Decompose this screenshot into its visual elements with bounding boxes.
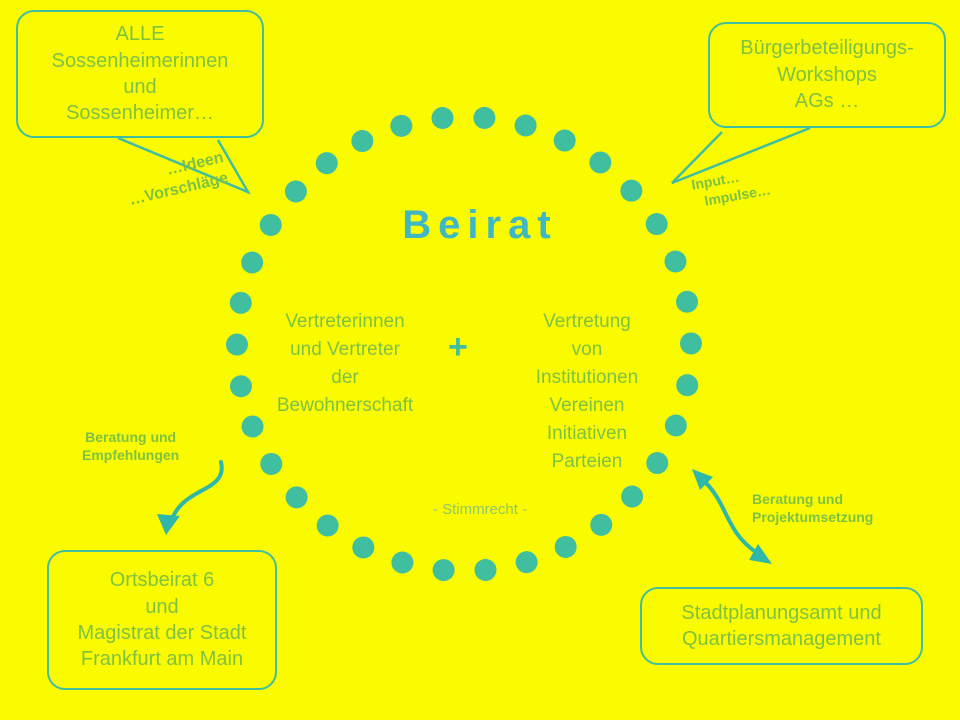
bubble-line: Bürgerbeteiligungs-	[740, 35, 913, 61]
right-column-line: Institutionen	[498, 364, 676, 392]
box-line: Ortsbeirat 6	[110, 567, 214, 593]
bubble-line: und	[123, 74, 156, 100]
circle-dot	[226, 334, 248, 356]
left-column-line: der	[256, 364, 434, 392]
beirat-title: Beirat	[0, 203, 960, 248]
circle-dot	[230, 375, 252, 397]
right-column-line: Parteien	[498, 448, 676, 476]
right-column-line: Initiativen	[498, 420, 676, 448]
circle-dot	[391, 551, 413, 573]
circle-dot	[390, 115, 412, 137]
bubble-line: ALLE	[116, 21, 165, 47]
box-line: und	[145, 594, 178, 620]
label-line: Beratung und	[752, 490, 873, 508]
circle-dot	[515, 115, 537, 137]
left-column-line: Vertreterinnen	[256, 308, 434, 336]
box-line: Frankfurt am Main	[81, 646, 243, 672]
label-line: Projektumsetzung	[752, 508, 873, 526]
plus-icon: +	[448, 330, 468, 364]
box-line: Quartiersmanagement	[682, 626, 881, 652]
circle-dot	[554, 130, 576, 152]
circle-dot	[433, 559, 455, 581]
label-line: Empfehlungen	[82, 446, 179, 464]
circle-dot	[241, 252, 263, 274]
circle-dot	[316, 152, 338, 174]
box-line: Magistrat der Stadt	[78, 620, 247, 646]
circle-dot	[351, 130, 373, 152]
right-column-line: Vertretung	[498, 308, 676, 336]
right-column-institutions: Vertretung von Institutionen Vereinen In…	[498, 308, 676, 476]
circle-dot	[664, 250, 686, 272]
bubble-alle-sossenheimer: ALLE Sossenheimerinnen und Sossenheimer…	[16, 10, 264, 138]
circle-dot	[474, 559, 496, 581]
bubble-line: Sossenheimer…	[66, 100, 214, 126]
right-column-line: von	[498, 336, 676, 364]
circle-dot	[676, 374, 698, 396]
label-line: Beratung und	[82, 428, 179, 446]
bubble-buergerbeteiligungs-workshops: Bürgerbeteiligungs- Workshops AGs …	[708, 22, 946, 128]
circle-dot	[589, 152, 611, 174]
circle-dot	[352, 536, 374, 558]
circle-dot	[432, 107, 454, 129]
label-beratung-projektumsetzung: Beratung und Projektumsetzung	[752, 490, 873, 526]
box-ortsbeirat-magistrat: Ortsbeirat 6 und Magistrat der Stadt Fra…	[47, 550, 277, 690]
circle-dot	[620, 180, 642, 202]
bubble-line: AGs …	[795, 88, 859, 114]
circle-dot	[285, 180, 307, 202]
bubble-line: Sossenheimerinnen	[52, 48, 229, 74]
circle-dot	[516, 551, 538, 573]
left-column-line: und Vertreter	[256, 336, 434, 364]
label-beratung-empfehlungen: Beratung und Empfehlungen	[82, 428, 179, 464]
right-column-line: Vereinen	[498, 392, 676, 420]
circle-dot	[680, 332, 702, 354]
circle-dot	[473, 107, 495, 129]
left-column-representatives: Vertreterinnen und Vertreter der Bewohne…	[256, 308, 434, 420]
circle-dot	[555, 536, 577, 558]
left-column-line: Bewohnerschaft	[256, 392, 434, 420]
bubble-line: Workshops	[777, 62, 877, 88]
circle-dot	[676, 291, 698, 313]
diagram-canvas: Beirat Vertreterinnen und Vertreter der …	[0, 0, 960, 720]
box-stadtplanungsamt-quartiersmanagement: Stadtplanungsamt und Quartiersmanagement	[640, 587, 923, 665]
box-line: Stadtplanungsamt und	[681, 600, 881, 626]
circle-dot	[230, 292, 252, 314]
